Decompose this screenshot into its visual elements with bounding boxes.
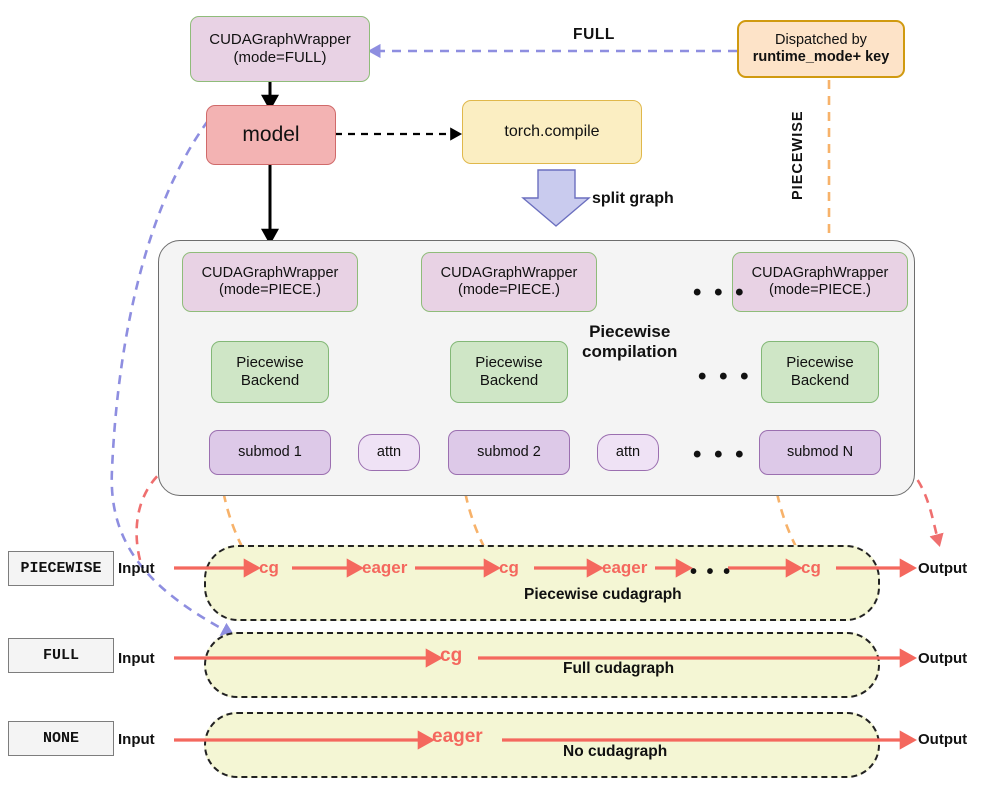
pw-title-line2: compilation — [582, 342, 677, 361]
label-edge-full: FULL — [573, 26, 615, 44]
lane-piecewise-ellipsis: • • • — [690, 562, 732, 582]
lane-full-output: Output — [918, 650, 967, 667]
lane-none-output: Output — [918, 731, 967, 748]
ellipsis-submods: • • • — [693, 443, 747, 467]
lane-full-caption: Full cudagraph — [563, 660, 674, 678]
lane-piecewise-output: Output — [918, 560, 967, 577]
pw-title-line1: Piecewise — [589, 322, 670, 341]
label-split-graph: split graph — [592, 190, 674, 208]
lane-none-input: Input — [118, 731, 155, 748]
lane-piecewise-token-0: cg — [259, 558, 279, 578]
label-piecewise-compilation: Piecewise compilation — [582, 322, 677, 363]
lane-piecewise-input: Input — [118, 560, 155, 577]
lane-piecewise-token-5: cg — [801, 558, 821, 578]
lane-full-input: Input — [118, 650, 155, 667]
lane-none-caption: No cudagraph — [563, 743, 667, 761]
ellipsis-wrappers: • • • — [693, 281, 747, 305]
label-edge-piecewise: PIECEWISE — [790, 110, 806, 200]
diagram-canvas: CUDAGraphWrapper (mode=FULL) model torch… — [0, 0, 985, 800]
lane-piecewise-caption: Piecewise cudagraph — [524, 586, 682, 604]
lane-none-token-0: eager — [432, 726, 483, 748]
lane-full-token-0: cg — [440, 645, 462, 667]
lane-piecewise-token-2: cg — [499, 558, 519, 578]
lane-arrows-layer — [0, 0, 985, 800]
ellipsis-backends: • • • — [698, 365, 752, 389]
lane-piecewise-token-1: eager — [362, 558, 407, 578]
lane-piecewise-token-3: eager — [602, 558, 647, 578]
